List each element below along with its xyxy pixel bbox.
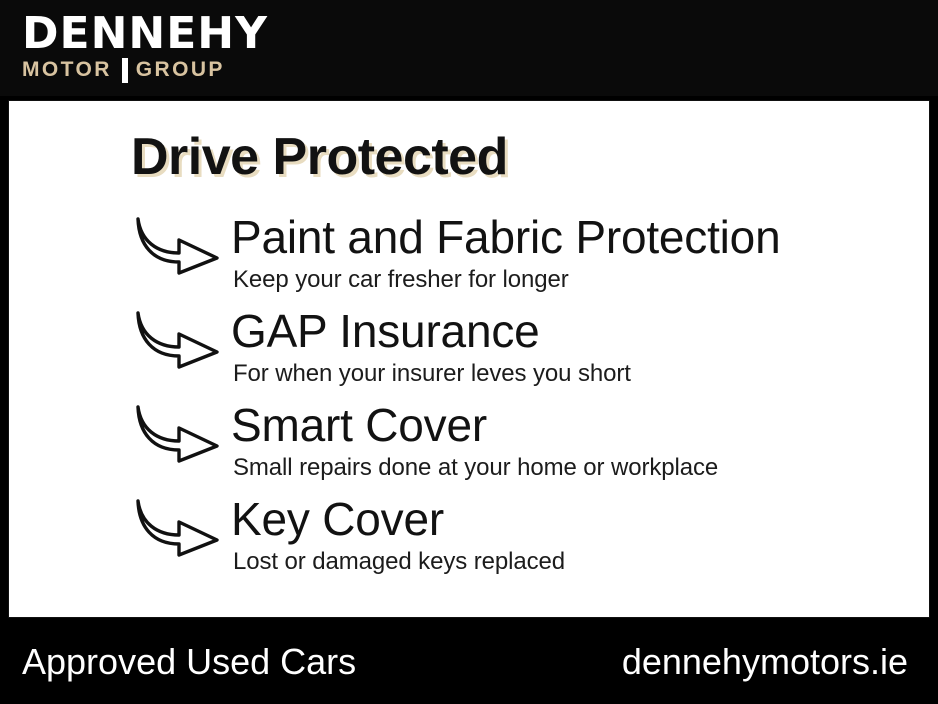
feature-subtitle: Small repairs done at your home or workp… bbox=[233, 454, 718, 482]
feature-item: GAP Insurance For when your insurer leve… bbox=[9, 303, 931, 397]
feature-title: Smart Cover bbox=[231, 397, 487, 453]
feature-title: Key Cover bbox=[231, 491, 444, 547]
feature-item: Key Cover Lost or damaged keys replaced bbox=[9, 491, 931, 585]
page-title: Drive Protected bbox=[131, 129, 508, 185]
feature-subtitle: Keep your car fresher for longer bbox=[233, 266, 569, 294]
feature-item: Smart Cover Small repairs done at your h… bbox=[9, 397, 931, 491]
feature-list: Paint and Fabric Protection Keep your ca… bbox=[9, 209, 931, 585]
advert-banner: DENNEHY MOTOR GROUP Drive Protected Pain… bbox=[0, 0, 938, 704]
feature-item: Paint and Fabric Protection Keep your ca… bbox=[9, 209, 931, 303]
curved-arrow-right-icon bbox=[135, 215, 221, 275]
feature-title: Paint and Fabric Protection bbox=[231, 209, 780, 265]
feature-subtitle: Lost or damaged keys replaced bbox=[233, 548, 565, 576]
footer-website-link[interactable]: dennehymotors.ie bbox=[622, 640, 908, 684]
header-band: DENNEHY MOTOR GROUP bbox=[0, 0, 938, 96]
logo-divider-bar bbox=[122, 58, 128, 83]
logo-wordmark: DENNEHY bbox=[22, 12, 262, 56]
feature-subtitle: For when your insurer leves you short bbox=[233, 360, 631, 388]
logo-subtitle-motor: MOTOR bbox=[22, 58, 112, 82]
curved-arrow-right-icon bbox=[135, 403, 221, 463]
dennehy-motor-group-logo[interactable]: DENNEHY MOTOR GROUP bbox=[22, 12, 262, 84]
feature-title: GAP Insurance bbox=[231, 303, 540, 359]
curved-arrow-right-icon bbox=[135, 309, 221, 369]
logo-subtitle-group: GROUP bbox=[136, 58, 225, 82]
footer-tagline: Approved Used Cars bbox=[22, 640, 356, 684]
logo-subtitle: MOTOR GROUP bbox=[22, 58, 262, 82]
footer-band: Approved Used Cars dennehymotors.ie bbox=[0, 622, 938, 704]
curved-arrow-right-icon bbox=[135, 497, 221, 557]
content-panel: Drive Protected Paint and Fabric Protect… bbox=[8, 100, 930, 618]
